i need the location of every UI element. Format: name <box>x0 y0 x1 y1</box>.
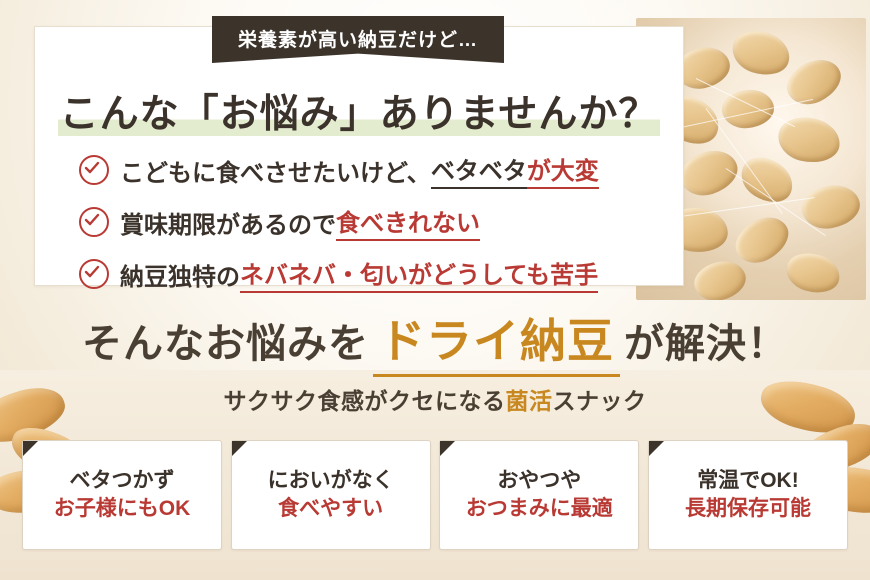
list-item-emphasis: ネバネバ・匂いがどうしても苦手 <box>240 255 598 293</box>
solution-pre: そんなお悩みを <box>82 311 369 369</box>
list-item-emphasis: 食べきれない <box>336 203 480 241</box>
feature-line1: ベタつかず <box>54 467 191 495</box>
list-item-lead: 納豆独特の <box>120 257 240 292</box>
feature-text: ベタつかず お子様にもOK <box>54 467 191 522</box>
feature-text: おやつや おつまみに最適 <box>466 467 613 522</box>
feature-line1: においがなく <box>268 467 394 495</box>
card-headline-text: こんな「お悩み」ありませんか？ <box>58 93 661 136</box>
list-item-plain: ベタベタ <box>431 151 527 189</box>
problem-list: こどもに食べさせたいけど、ベタベタが大変 賞味期限があるので食べきれない 納豆独… <box>79 151 659 307</box>
feature-card: においがなく 食べやすい <box>231 440 431 550</box>
check-icon <box>79 207 109 237</box>
feature-line1: 常温でOK! <box>685 467 811 495</box>
card-headline: こんな「お悩み」ありませんか？ <box>35 83 683 139</box>
list-item: 納豆独特のネバネバ・匂いがどうしても苦手 <box>79 255 659 293</box>
solution-post: が解決！ <box>624 311 788 369</box>
problem-card: こんな「お悩み」ありませんか？ こどもに食べさせたいけど、ベタベタが大変 賞味期… <box>34 26 684 286</box>
check-icon <box>79 155 109 185</box>
feature-line2: 長期保存可能 <box>685 495 811 523</box>
subtitle-pre: サクサク食感がクセになる <box>224 388 506 414</box>
check-icon <box>79 259 109 289</box>
subtitle-accent: 菌活 <box>506 388 553 414</box>
feature-card: ベタつかず お子様にもOK <box>22 440 222 550</box>
solution-subtitle: サクサク食感がクセになる菌活スナック <box>0 382 870 416</box>
feature-text: においがなく 食べやすい <box>268 467 394 522</box>
solution-product-name: ドライ納豆 <box>373 305 620 377</box>
feature-line2: お子様にもOK <box>54 495 191 523</box>
list-item: こどもに食べさせたいけど、ベタベタが大変 <box>79 151 659 189</box>
list-item: 賞味期限があるので食べきれない <box>79 203 659 241</box>
feature-line1: おやつや <box>466 467 613 495</box>
feature-line2: 食べやすい <box>268 495 394 523</box>
feature-card: おやつや おつまみに最適 <box>439 440 639 550</box>
list-item-lead: 賞味期限があるので <box>120 205 336 240</box>
feature-list: ベタつかず お子様にもOK においがなく 食べやすい おやつや おつまみに最適 … <box>22 440 848 550</box>
feature-card: 常温でOK! 長期保存可能 <box>648 440 848 550</box>
list-item-emphasis: が大変 <box>527 151 599 189</box>
card-ribbon-label: 栄養素が高い納豆だけど… <box>212 16 504 63</box>
subtitle-post: スナック <box>553 388 647 414</box>
feature-line2: おつまみに最適 <box>466 495 613 523</box>
solution-headline: そんなお悩みをドライ納豆が解決！ <box>0 305 870 377</box>
feature-text: 常温でOK! 長期保存可能 <box>685 467 811 522</box>
ribbon-container: 栄養素が高い納豆だけど… <box>34 0 682 60</box>
list-item-lead: こどもに食べさせたいけど、 <box>120 153 431 188</box>
